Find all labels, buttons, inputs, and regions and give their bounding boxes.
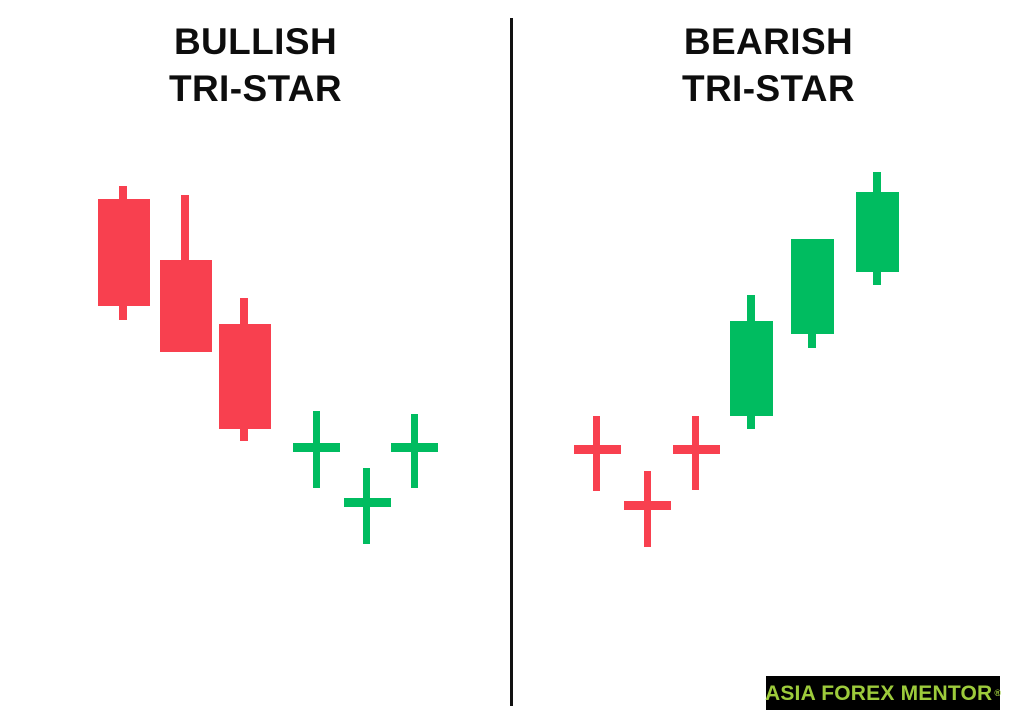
asia-forex-mentor-logo: ASIA FOREX MENTOR® — [766, 676, 1000, 710]
candle-upper-wick — [181, 195, 189, 260]
doji-wick — [644, 471, 651, 547]
candle-upper-wick — [873, 172, 881, 192]
panel-bearish-title: BEARISH TRI-STAR — [513, 18, 1024, 113]
chart-canvas: BULLISH TRI-STAR BEARISH TRI-STAR ASIA F… — [0, 0, 1024, 724]
doji-open-close-line — [673, 445, 720, 454]
candle-upper-wick — [747, 295, 755, 321]
candle-lower-wick — [747, 416, 755, 429]
doji-wick — [313, 411, 320, 488]
candle-body — [791, 239, 834, 334]
panel-bullish-title: BULLISH TRI-STAR — [0, 18, 511, 113]
candle-body — [730, 321, 773, 416]
candle-lower-wick — [119, 306, 127, 320]
doji-open-close-line — [574, 445, 621, 454]
candle-body — [160, 260, 212, 352]
candle-upper-wick — [240, 298, 248, 324]
logo-text: ASIA FOREX MENTOR — [765, 683, 992, 704]
doji-open-close-line — [624, 501, 671, 510]
doji-wick — [593, 416, 600, 491]
candle-body — [219, 324, 271, 429]
logo-trademark-symbol: ® — [994, 688, 1001, 698]
candle-body — [856, 192, 899, 272]
doji-wick — [692, 416, 699, 490]
candle-lower-wick — [873, 272, 881, 285]
candle-lower-wick — [240, 429, 248, 441]
panel-bearish: BEARISH TRI-STAR — [513, 0, 1024, 724]
candle-upper-wick — [119, 186, 127, 199]
doji-wick — [411, 414, 418, 488]
panel-bullish: BULLISH TRI-STAR — [0, 0, 511, 724]
doji-open-close-line — [391, 443, 438, 452]
doji-wick — [363, 468, 370, 544]
candle-body — [98, 199, 150, 306]
doji-open-close-line — [293, 443, 340, 452]
candle-lower-wick — [808, 334, 816, 348]
doji-open-close-line — [344, 498, 391, 507]
